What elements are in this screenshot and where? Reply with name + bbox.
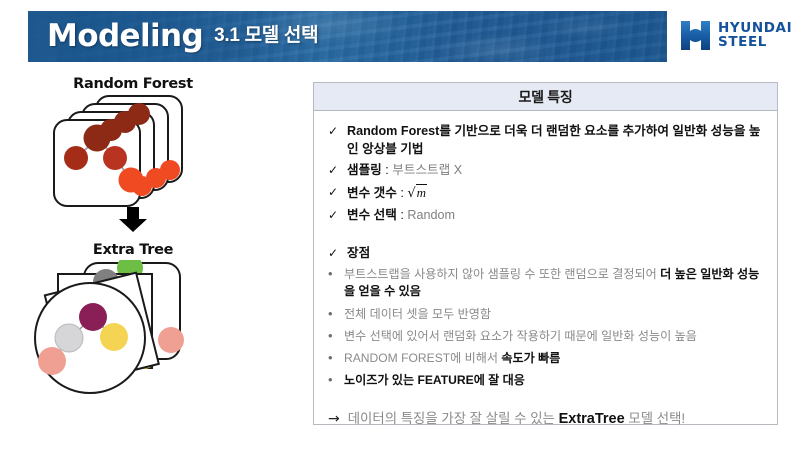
check-item-separator: : bbox=[397, 186, 408, 200]
check-item-value: Random bbox=[407, 208, 455, 222]
bullet-icon: • bbox=[328, 350, 334, 367]
check-item-separator: : bbox=[382, 163, 393, 177]
list-item: • 변수 선택에 있어서 랜덤화 요소가 작용하기 때문에 일반화 성능이 높음 bbox=[328, 328, 767, 345]
page-subtitle: 3.1 모델 선택 bbox=[214, 26, 318, 47]
header-banner: Modeling 3.1 모델 선택 bbox=[28, 11, 667, 62]
conclusion-text-normal-1: 데이터의 특징을 가장 잘 살릴 수 있는 bbox=[348, 411, 559, 426]
check-list: ✓ Random Forest를 기반으로 더욱 더 랜덤한 요소를 추가하여 … bbox=[328, 123, 767, 262]
bullet-icon: • bbox=[328, 372, 334, 389]
check-item-label: 변수 선택 bbox=[347, 208, 397, 222]
list-item: • 노이즈가 있는 FEATURE에 잘 대응 bbox=[328, 372, 767, 389]
check-item-text: 변수 갯수 : √m bbox=[347, 184, 427, 203]
logo-wordmark: HYUNDAI STEEL bbox=[718, 22, 792, 50]
check-item-value-math: √m bbox=[407, 185, 427, 200]
bullet-text-normal: RANDOM FOREST에 비해서 bbox=[344, 351, 501, 365]
panel-header: 모델 특징 bbox=[314, 83, 777, 111]
bullet-text-bold: 속도가 빠름 bbox=[501, 351, 560, 365]
bullet-text: 변수 선택에 있어서 랜덤화 요소가 작용하기 때문에 일반화 성능이 높음 bbox=[344, 328, 697, 345]
bullet-text-normal: 전체 데이터 셋을 모두 반영함 bbox=[344, 307, 491, 321]
check-item-separator: : bbox=[397, 208, 408, 222]
hyundai-steel-logo: HYUNDAI STEEL bbox=[679, 19, 792, 52]
page-title: Modeling bbox=[47, 21, 203, 52]
model-features-panel: 모델 특징 ✓ Random Forest를 기반으로 더욱 더 랜덤한 요소를… bbox=[313, 82, 778, 425]
check-item-text: 샘플링 : 부트스트랩 X bbox=[347, 162, 462, 180]
extra-tree-heading: Extra Tree bbox=[18, 242, 248, 258]
advantages-label-text: 장점 bbox=[347, 246, 370, 260]
list-item: • 전체 데이터 셋을 모두 반영함 bbox=[328, 306, 767, 323]
advantages-label: 장점 bbox=[347, 245, 370, 263]
check-icon: ✓ bbox=[328, 245, 338, 262]
bullet-icon: • bbox=[328, 266, 334, 283]
bullet-text-normal: 변수 선택에 있어서 랜덤화 요소가 작용하기 때문에 일반화 성능이 높음 bbox=[344, 329, 697, 343]
bullet-text: 전체 데이터 셋을 모두 반영함 bbox=[344, 306, 491, 323]
check-item-body: Random Forest를 기반으로 더욱 더 랜덤한 요소를 추가하여 일반… bbox=[347, 124, 761, 156]
check-item-text: Random Forest를 기반으로 더욱 더 랜덤한 요소를 추가하여 일반… bbox=[347, 123, 767, 158]
bullet-text-normal: 부트스트랩을 사용하지 않아 샘플링 수 또한 랜덤으로 결정되어 bbox=[344, 267, 660, 281]
list-item: • 부트스트랩을 사용하지 않아 샘플링 수 또한 랜덤으로 결정되어 더 높은… bbox=[328, 266, 767, 300]
panel-header-title: 모델 특징 bbox=[519, 87, 573, 107]
flow-arrow bbox=[18, 207, 248, 233]
check-item-label: 샘플링 bbox=[347, 163, 382, 177]
illustration-panel: Random Forest bbox=[18, 72, 308, 432]
list-item: ✓ Random Forest를 기반으로 더욱 더 랜덤한 요소를 추가하여 … bbox=[328, 123, 767, 158]
bullet-icon: • bbox=[328, 306, 334, 323]
list-item: ✓ 변수 갯수 : √m bbox=[328, 184, 767, 203]
panel-body: ✓ Random Forest를 기반으로 더욱 더 랜덤한 요소를 추가하여 … bbox=[314, 111, 777, 427]
bullet-list: • 부트스트랩을 사용하지 않아 샘플링 수 또한 랜덤으로 결정되어 더 높은… bbox=[328, 266, 767, 389]
conclusion-line: → 데이터의 특징을 가장 잘 살릴 수 있는 ExtraTree 모델 선택! bbox=[328, 407, 767, 427]
list-item: • RANDOM FOREST에 비해서 속도가 빠름 bbox=[328, 350, 767, 367]
conclusion-text-bold: ExtraTree bbox=[559, 411, 625, 427]
logo-line-steel: STEEL bbox=[718, 36, 792, 50]
bullet-text-bold: 노이즈가 있는 FEATURE에 잘 대응 bbox=[344, 373, 525, 387]
down-arrow-icon bbox=[118, 207, 148, 233]
conclusion-text-normal-2: 모델 선택! bbox=[625, 411, 685, 426]
check-icon: ✓ bbox=[328, 123, 338, 140]
list-item: ✓ 장점 bbox=[328, 245, 767, 263]
bullet-icon: • bbox=[328, 328, 334, 345]
check-item-text: 변수 선택 : Random bbox=[347, 207, 455, 225]
extra-tree-diagram bbox=[18, 260, 268, 425]
check-item-value: 부트스트랩 X bbox=[392, 163, 462, 177]
random-forest-diagram bbox=[18, 92, 248, 217]
bullet-text: RANDOM FOREST에 비해서 속도가 빠름 bbox=[344, 350, 560, 367]
spacer bbox=[328, 229, 767, 245]
bullet-text: 노이즈가 있는 FEATURE에 잘 대응 bbox=[344, 372, 525, 389]
bullet-text: 부트스트랩을 사용하지 않아 샘플링 수 또한 랜덤으로 결정되어 더 높은 일… bbox=[344, 266, 767, 300]
right-arrow-icon: → bbox=[328, 411, 340, 427]
hyundai-h-mark-icon bbox=[679, 19, 712, 52]
banner-title-group: Modeling 3.1 모델 선택 bbox=[47, 11, 318, 62]
check-icon: ✓ bbox=[328, 207, 338, 224]
conclusion-text: 데이터의 특징을 가장 잘 살릴 수 있는 ExtraTree 모델 선택! bbox=[348, 407, 685, 427]
random-forest-heading: Random Forest bbox=[18, 76, 248, 92]
check-icon: ✓ bbox=[328, 162, 338, 179]
list-item: ✓ 변수 선택 : Random bbox=[328, 207, 767, 225]
check-item-label: 변수 갯수 bbox=[347, 186, 397, 200]
check-icon: ✓ bbox=[328, 184, 338, 201]
list-item: ✓ 샘플링 : 부트스트랩 X bbox=[328, 162, 767, 180]
